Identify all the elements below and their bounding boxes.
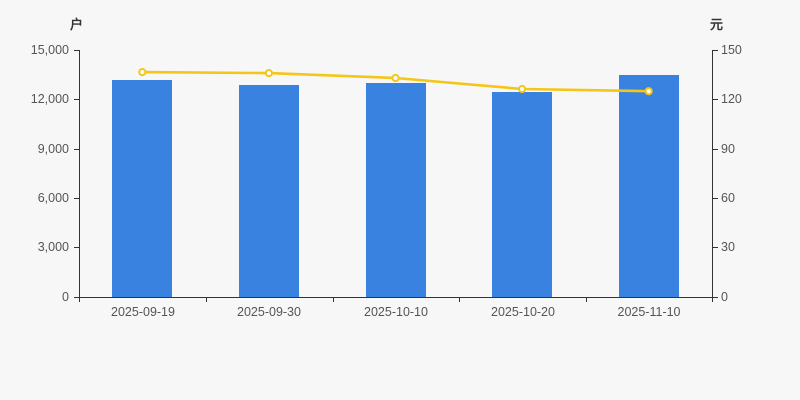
left-axis-tick-label-0: 0 (62, 291, 69, 304)
right-axis-tick-label-0: 0 (721, 291, 728, 304)
right-axis-unit-label: 元 (710, 14, 723, 33)
left-axis-tick-5 (74, 50, 79, 51)
right-axis-line (712, 50, 713, 298)
right-axis-tick-2 (713, 198, 718, 199)
right-axis-tick-4 (713, 99, 718, 100)
x-axis-label-3: 2025-10-20 (491, 306, 555, 319)
bar-3[interactable] (492, 92, 552, 297)
bar-1[interactable] (239, 85, 299, 297)
left-axis-tick-4 (74, 99, 79, 100)
left-axis-tick-2 (74, 198, 79, 199)
x-axis-tick-1 (206, 297, 207, 302)
x-axis-label-1: 2025-09-30 (237, 306, 301, 319)
x-axis-tick-2 (333, 297, 334, 302)
line-marker-1[interactable] (266, 70, 272, 76)
right-axis-tick-1 (713, 247, 718, 248)
line-marker-2[interactable] (392, 75, 398, 81)
right-axis-tick-5 (713, 50, 718, 51)
left-axis-unit-label: 户 (70, 14, 83, 33)
left-axis-tick-1 (74, 247, 79, 248)
left-axis-tick-3 (74, 149, 79, 150)
x-axis-label-2: 2025-10-10 (364, 306, 428, 319)
x-axis-tick-end (712, 297, 713, 302)
x-axis-label-4: 2025-11-10 (617, 306, 680, 319)
right-axis-tick-3 (713, 149, 718, 150)
x-axis-line (79, 297, 713, 298)
chart-container: 户 元 0 3,000 6,000 9,000 12,000 15,000 0 … (0, 0, 800, 400)
bar-4[interactable] (619, 75, 679, 297)
x-axis-tick-3 (459, 297, 460, 302)
left-axis-tick-label-1: 3,000 (38, 241, 69, 254)
left-axis-tick-label-3: 9,000 (38, 143, 69, 156)
right-axis-tick-label-2: 60 (721, 192, 735, 205)
left-axis-tick-label-5: 15,000 (31, 44, 69, 57)
right-axis-tick-label-4: 120 (721, 93, 742, 106)
right-axis-tick-label-1: 30 (721, 241, 735, 254)
x-axis-tick-4 (586, 297, 587, 302)
bar-0[interactable] (112, 80, 172, 297)
x-axis-tick-start (79, 297, 80, 302)
right-axis-tick-label-5: 150 (721, 44, 742, 57)
right-axis-tick-0 (713, 297, 718, 298)
x-axis-label-0: 2025-09-19 (111, 306, 175, 319)
left-axis-line (79, 50, 80, 298)
bar-2[interactable] (366, 83, 426, 297)
right-axis-tick-label-3: 90 (721, 143, 735, 156)
left-axis-tick-label-2: 6,000 (38, 192, 69, 205)
line-marker-0[interactable] (139, 69, 145, 75)
left-axis-tick-label-4: 12,000 (31, 93, 69, 106)
